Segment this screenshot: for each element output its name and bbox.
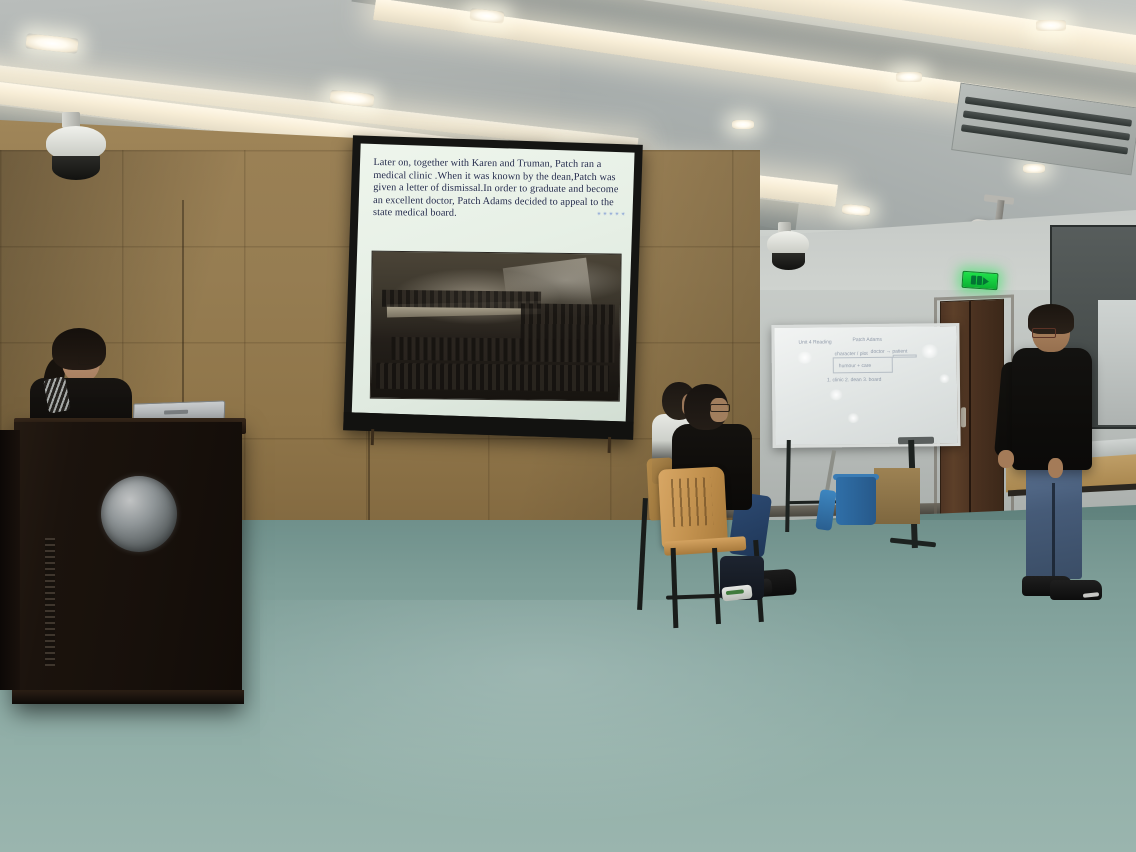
man-jeans-inseam xyxy=(1052,483,1055,579)
door-seam xyxy=(969,301,971,516)
man-left-hand xyxy=(998,450,1014,468)
camera-dome-housing xyxy=(46,126,106,160)
man-shoe-right-swoosh xyxy=(1083,592,1099,598)
camera-dome-lens-2 xyxy=(772,253,805,270)
man-shoe-right xyxy=(1050,580,1102,600)
mop-bucket xyxy=(836,477,876,525)
floor-reflection xyxy=(260,600,960,840)
dome-camera-centre xyxy=(766,222,810,272)
whiteboard-glare-5 xyxy=(939,374,950,383)
podium-side-panel xyxy=(0,430,20,690)
screen-hook-left xyxy=(371,429,375,445)
whiteboard[interactable]: Unit 4 Reading Patch Adams character / p… xyxy=(771,323,960,448)
door-handle[interactable] xyxy=(961,407,966,427)
camera-dome-lens xyxy=(52,156,100,180)
photo-scene: Later on, together with Karen and Truman… xyxy=(0,0,1136,852)
slide-photograph xyxy=(370,251,622,402)
whiteboard-glare-1 xyxy=(797,352,813,364)
standing-man xyxy=(1000,308,1110,608)
whiteboard-line-6: 1. clinic 2. dean 3. board xyxy=(827,377,882,384)
laptop-logo xyxy=(164,410,188,415)
exit-sign-glyph-1 xyxy=(971,275,977,284)
whiteboard-marker-tray xyxy=(898,437,934,445)
whiteboard-glare-4 xyxy=(847,413,859,423)
downlight-7 xyxy=(896,72,922,82)
screen-surface: Later on, together with Karen and Truman… xyxy=(352,144,635,422)
slide-decoration: ✴✴✴✴✴ xyxy=(596,211,626,218)
whiteboard-glare-3 xyxy=(829,389,843,400)
sneaker-stripe xyxy=(726,589,744,595)
back-cabinet xyxy=(874,468,920,524)
whiteboard-diagram-arrow xyxy=(893,354,917,357)
downlight-9 xyxy=(732,120,754,129)
student-b-glasses xyxy=(710,404,730,412)
podium-base xyxy=(12,690,244,704)
man-right-hand xyxy=(1048,458,1063,478)
chair-backrest-slats xyxy=(671,477,713,527)
screen-hook-right xyxy=(608,437,612,453)
exit-sign-arrow-icon xyxy=(983,277,990,285)
dome-camera-left xyxy=(44,112,108,182)
man-glasses xyxy=(1032,328,1056,338)
downlight-8 xyxy=(1023,164,1045,173)
man-coat xyxy=(1012,348,1092,470)
podium-emblem xyxy=(101,476,177,552)
whiteboard-glare-2 xyxy=(921,344,939,358)
presenter-glasses xyxy=(78,356,102,365)
whiteboard-diagram-box xyxy=(833,357,893,374)
slide-photo-crowd-row-3 xyxy=(376,363,609,392)
projection-screen: Later on, together with Karen and Truman… xyxy=(343,135,643,439)
whiteboard-line-1: Unit 4 Reading xyxy=(799,339,832,345)
podium-vent-grille xyxy=(45,538,55,666)
exit-sign xyxy=(961,271,998,290)
slide-photo-crowd-row-1 xyxy=(382,290,541,309)
exit-sign-glyph-2 xyxy=(977,276,983,285)
slide-photo-crowd-row-4 xyxy=(520,303,615,363)
downlight-10 xyxy=(1036,20,1066,31)
whiteboard-line-2: Patch Adams xyxy=(852,337,882,343)
slide-body-text: Later on, together with Karen and Truman… xyxy=(373,157,626,222)
